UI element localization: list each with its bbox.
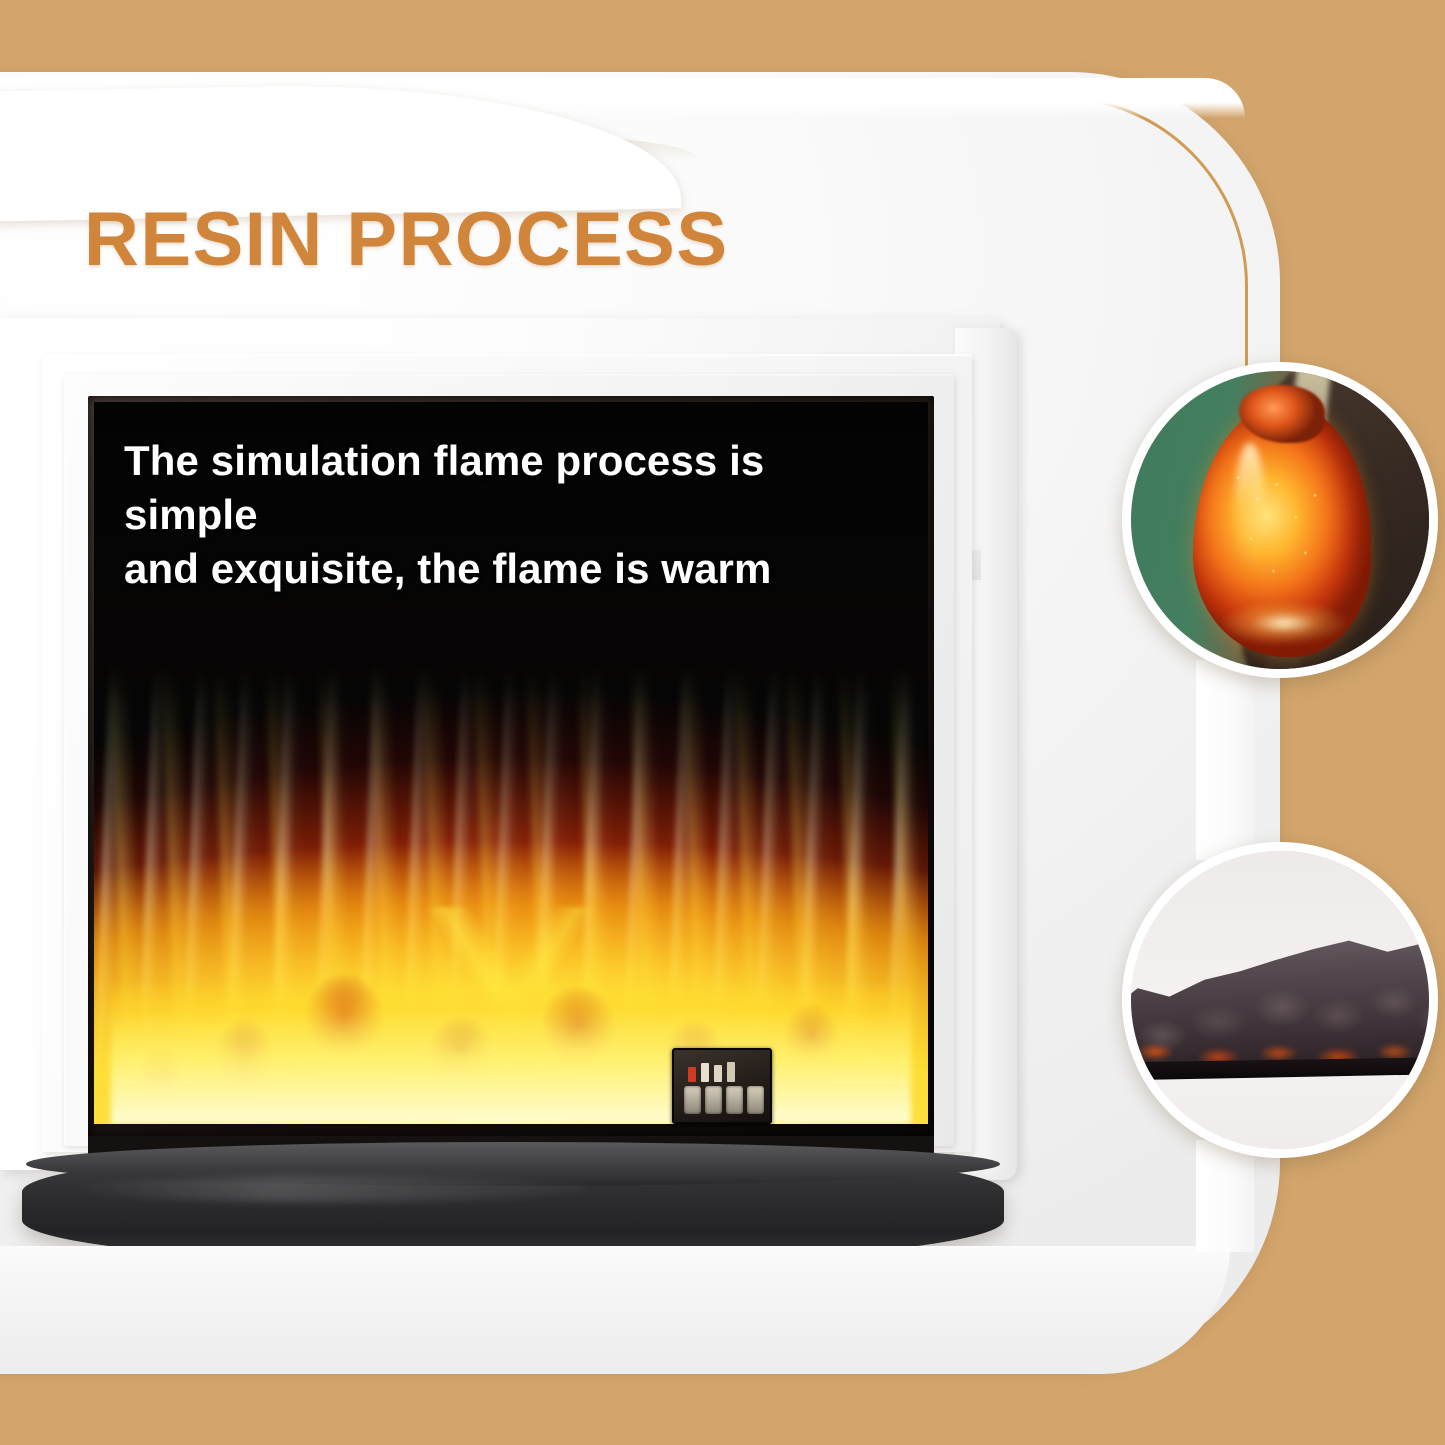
control-switch-3[interactable] — [726, 1086, 743, 1114]
flame-screen: The simulation flame process is simple a… — [94, 402, 928, 1124]
hearth-gloss-highlight — [70, 1176, 590, 1202]
inset-connector-stem-bottom — [1196, 1140, 1254, 1252]
fireplace-control-panel[interactable] — [672, 1048, 772, 1124]
indicator-light-3 — [714, 1065, 722, 1082]
control-switch-1[interactable] — [684, 1086, 701, 1114]
indicator-light-4 — [727, 1062, 735, 1082]
glass-caption-line2: and exquisite, the flame is warm — [124, 545, 771, 592]
flame-core-glow — [111, 980, 912, 1124]
control-switch-row[interactable] — [684, 1086, 764, 1116]
electric-fireplace: The simulation flame process is simple a… — [0, 318, 1020, 1248]
resin-bubbles — [1203, 445, 1363, 625]
hearth-floor-shelf — [0, 1246, 1230, 1374]
product-infographic-canvas: RESIN PROCESS The simulation flame proce… — [0, 0, 1445, 1445]
indicator-light-2 — [701, 1063, 709, 1082]
inset-connector-stem-top — [1196, 660, 1254, 860]
control-switch-4[interactable] — [747, 1086, 764, 1114]
indicator-light-1 — [688, 1067, 696, 1082]
page-title: RESIN PROCESS — [84, 196, 729, 283]
resin-bottom-glow — [1219, 601, 1349, 645]
control-indicator-lights — [688, 1058, 760, 1082]
glass-caption-line1: The simulation flame process is simple — [124, 437, 764, 538]
control-switch-2[interactable] — [705, 1086, 722, 1114]
glass-caption: The simulation flame process is simple a… — [124, 434, 904, 595]
inset-resin-drop-detail[interactable] — [1122, 362, 1438, 678]
inset-log-set-detail[interactable] — [1122, 842, 1438, 1158]
